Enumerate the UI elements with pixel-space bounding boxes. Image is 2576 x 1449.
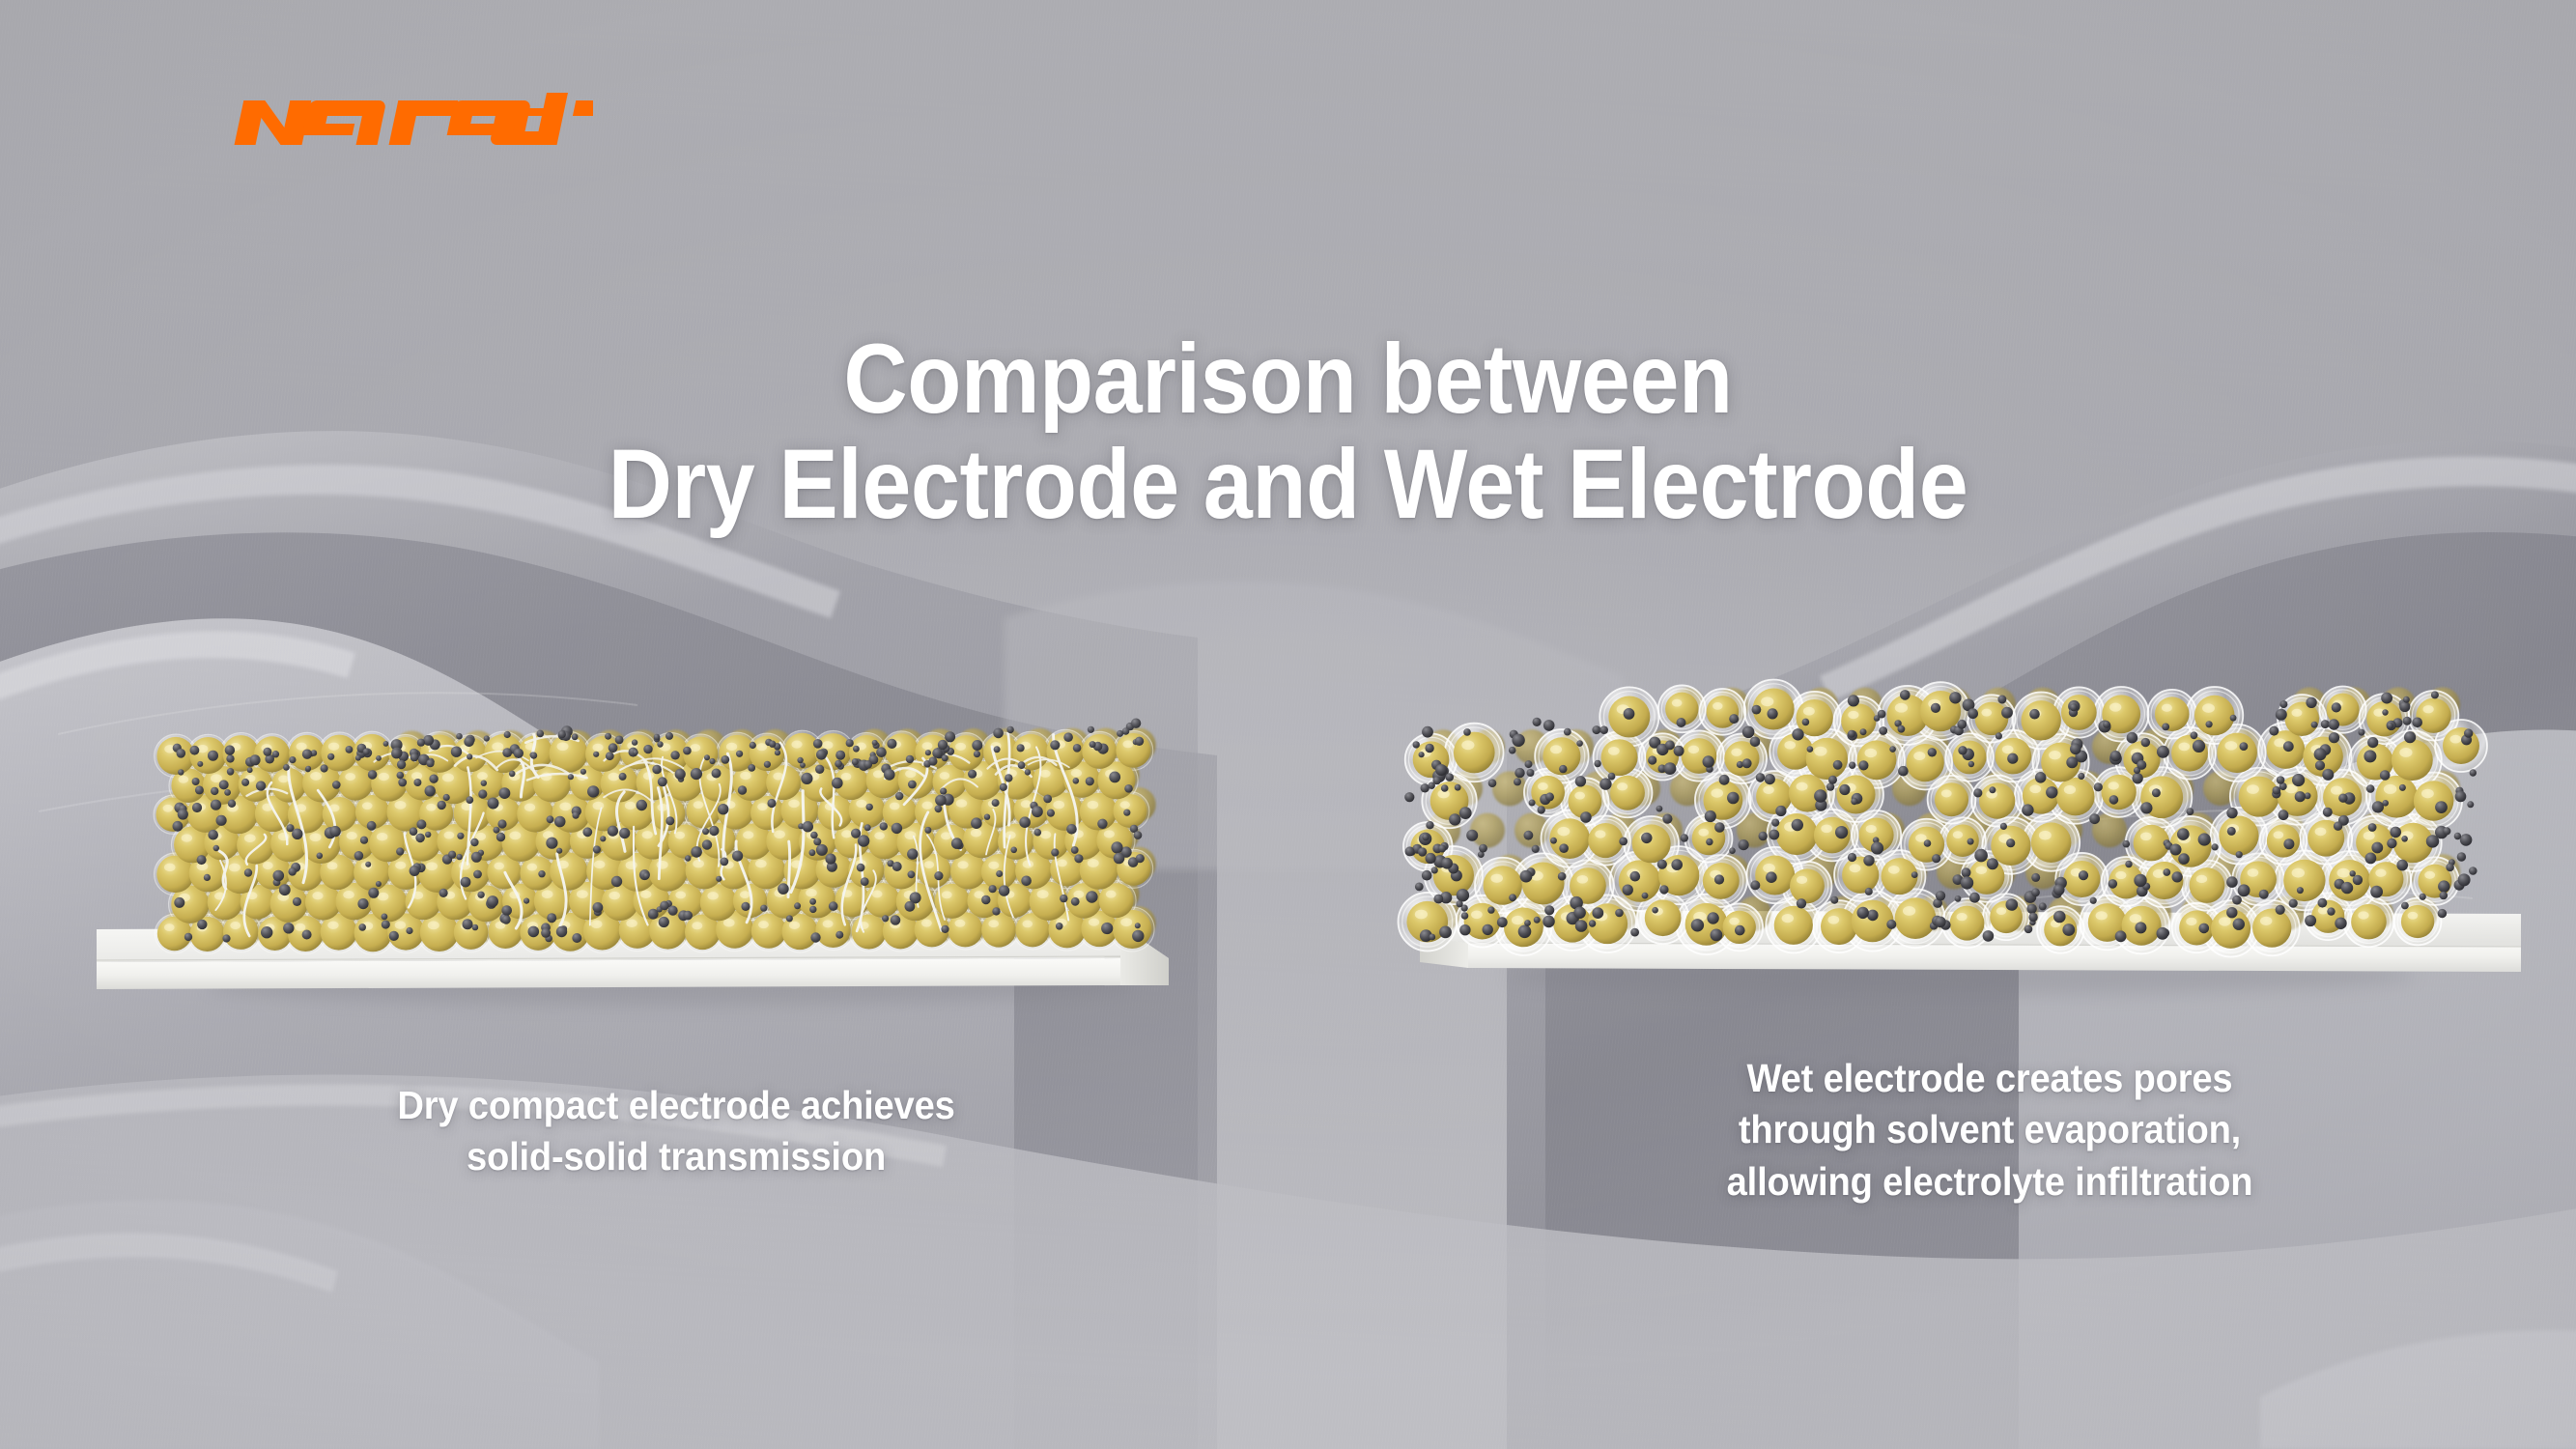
wet-particle-bed [1399, 679, 2487, 956]
dry-electrode-caption: Dry compact electrode achieves solid-sol… [183, 1080, 1171, 1183]
wet-electrode-illustration [1381, 657, 2521, 1024]
dry-particle-bed [154, 719, 1156, 955]
dry-electrode-illustration [116, 676, 1227, 1024]
wet-electrode-caption: Wet electrode creates pores through solv… [1541, 1053, 2439, 1207]
page-title: Comparison between Dry Electrode and Wet… [128, 327, 2447, 537]
narada-logo[interactable] [216, 93, 593, 153]
slide-canvas: Comparison between Dry Electrode and Wet… [0, 0, 2576, 1449]
